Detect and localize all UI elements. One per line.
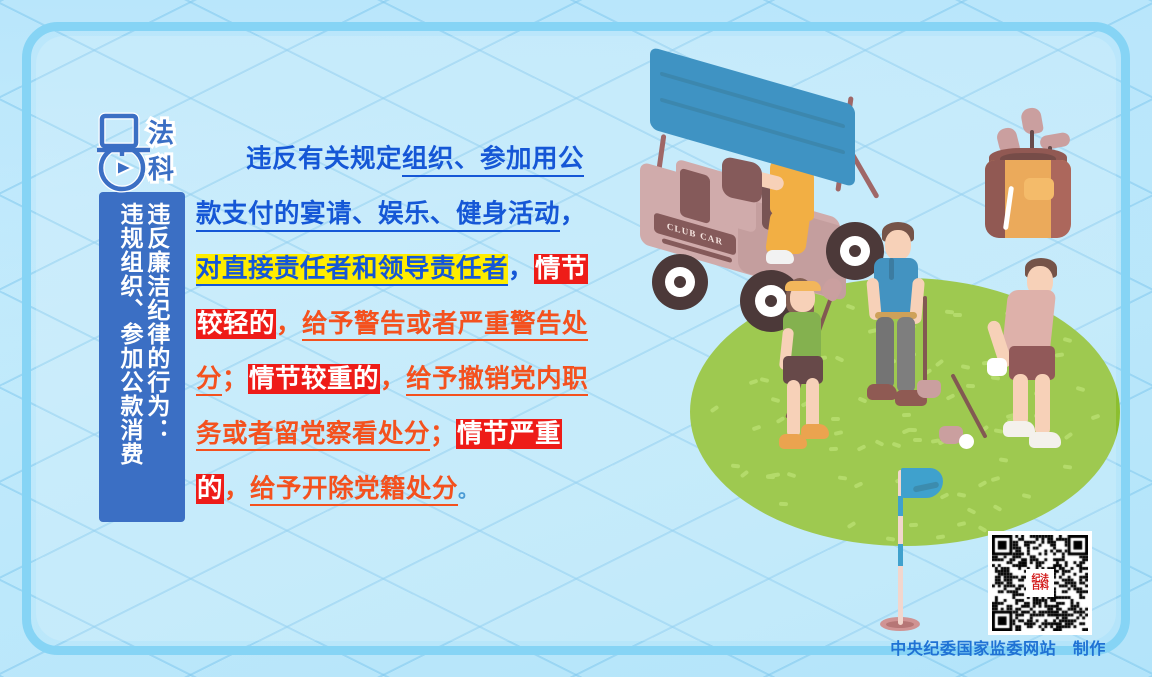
female-golfer-shoe-right xyxy=(801,424,829,439)
brand-logo[interactable]: 法 科 xyxy=(88,106,196,202)
female-golfer-leg-right xyxy=(806,378,819,430)
grass-blade xyxy=(766,475,775,479)
female-golfer-club-head xyxy=(819,275,846,303)
driver-shoe xyxy=(766,250,794,264)
regulation-text-segment: ； xyxy=(430,419,456,449)
grass-blade xyxy=(913,438,922,442)
qr-logo-line2: 百科 xyxy=(1031,582,1048,592)
male-golfer-pink-leg-left xyxy=(1013,374,1028,426)
grass-blade xyxy=(837,475,846,480)
male-golfer-pink-leg-right xyxy=(1035,374,1050,436)
male-golfer-blue-leg-right xyxy=(897,317,915,393)
regulation-text-segment: 较轻的 xyxy=(196,309,276,339)
cart-wheel-rear-rim xyxy=(665,267,695,297)
female-golfer-visor xyxy=(785,281,821,291)
female-golfer xyxy=(775,272,845,462)
regulation-text-segment: 对直接责任者和领导责任者 xyxy=(196,254,508,286)
regulation-text-line: 分；情节较重的，给予撤销党内职 xyxy=(196,352,602,407)
male-golfer-blue-shoe-left xyxy=(867,384,897,400)
male-golfer-blue-collar xyxy=(889,258,894,280)
sidebar-column-right: 违反廉洁纪律的行为： xyxy=(143,202,168,522)
regulation-text-line: 务或者留党察看处分；情节严重 xyxy=(196,407,602,462)
regulation-text-segment: 的 xyxy=(196,474,224,504)
golf-cart: CLUB CAR xyxy=(630,72,900,337)
regulation-text-line: 违反有关规定组织、参加用公 xyxy=(196,132,602,187)
regulation-text-segment: ， xyxy=(276,309,302,339)
regulation-text-segment: 给予撤销党内职 xyxy=(406,364,588,396)
regulation-text-segment: ， xyxy=(508,254,534,284)
grass-blade xyxy=(953,312,962,316)
regulation-text-segment: 。 xyxy=(458,478,479,502)
cart-wheel-rear-hub xyxy=(674,276,686,288)
regulation-text-line: 的，给予开除党籍处分。 xyxy=(196,462,602,517)
regulation-text-segment: ； xyxy=(222,364,248,394)
cart-wheel-far-rim xyxy=(840,236,870,266)
regulation-text-segment: 违反有关规定 xyxy=(246,144,402,174)
logo-char-ke: 科 xyxy=(148,155,174,185)
cart-wheel-rear xyxy=(652,254,708,310)
male-golfer-blue-club-head xyxy=(917,380,941,398)
regulation-text-segment: 分 xyxy=(196,364,222,396)
male-golfer-pink-shoe-right xyxy=(1029,432,1061,448)
logo-char-fa: 法 xyxy=(148,119,174,149)
driver-leg xyxy=(765,210,811,254)
male-golfer-pink-glove xyxy=(987,358,1007,376)
regulation-text-segment: 务或者留党察看处分 xyxy=(196,419,430,451)
regulation-text-segment: 给予开除党籍处分 xyxy=(250,474,458,506)
female-golfer-leg-left xyxy=(787,380,800,438)
male-golfer-pink-torso xyxy=(1002,290,1057,352)
qr-center-logo: 纪法百科 xyxy=(1026,569,1054,597)
regulation-text-line: 对直接责任者和领导责任者，情节 xyxy=(196,242,602,297)
regulation-text-segment: 情节严重 xyxy=(456,419,562,449)
male-golfer-blue-leg-left xyxy=(876,317,894,389)
regulation-text-segment: 给予警告或者严重警告处 xyxy=(302,309,588,341)
golf-ball xyxy=(959,434,974,449)
poster-root: CLUB CAR xyxy=(0,0,1152,677)
regulation-text-segment: ， xyxy=(380,364,406,394)
flag-cloth xyxy=(901,468,943,498)
cart-wheel-far-hub xyxy=(849,245,861,257)
male-golfer-blue-head xyxy=(885,230,911,260)
grass-blade xyxy=(779,502,788,506)
male-golfer-pink xyxy=(987,258,1073,444)
grass-blade xyxy=(731,464,740,469)
grass-blade xyxy=(908,428,917,432)
qr-center-logo-text: 纪法百科 xyxy=(1031,575,1048,591)
grass-blade xyxy=(901,413,910,417)
regulation-text-segment: 情节 xyxy=(534,254,588,284)
cart-seat-cushion xyxy=(680,168,710,225)
regulation-text-segment: ， xyxy=(560,199,586,229)
regulation-text-segment: 组织、参加用公 xyxy=(402,144,584,177)
credit-line: 中央纪委国家监委网站 制作 xyxy=(0,635,1106,659)
regulation-text-segment: ， xyxy=(224,474,250,504)
sidebar-column-left: 违规组织、参加公款消费 xyxy=(116,202,141,522)
regulation-text-line: 较轻的，给予警告或者严重警告处 xyxy=(196,297,602,352)
grass-blade xyxy=(966,384,975,388)
male-golfer-blue-club-shaft xyxy=(923,296,927,390)
male-golfer-blue xyxy=(867,222,939,408)
golf-bag-right-panel xyxy=(1051,160,1071,238)
regulation-text-segment: 情节较重的 xyxy=(248,364,380,394)
sidebar-vertical-title: 违反廉洁纪律的行为： 违规组织、参加公款消费 xyxy=(99,192,185,522)
regulation-text-segment: 款支付的宴请、娱乐、健身活动 xyxy=(196,199,560,232)
main-regulation-text: 违反有关规定组织、参加用公款支付的宴请、娱乐、健身活动，对直接责任者和领导责任者… xyxy=(196,132,602,517)
brand-logo-svg: 法 科 xyxy=(88,106,196,202)
golf-bag-pocket xyxy=(1024,178,1054,200)
grass-blade xyxy=(1063,464,1072,469)
regulation-text-line: 款支付的宴请、娱乐、健身活动， xyxy=(196,187,602,242)
golf-bag-left-panel xyxy=(985,160,1005,238)
